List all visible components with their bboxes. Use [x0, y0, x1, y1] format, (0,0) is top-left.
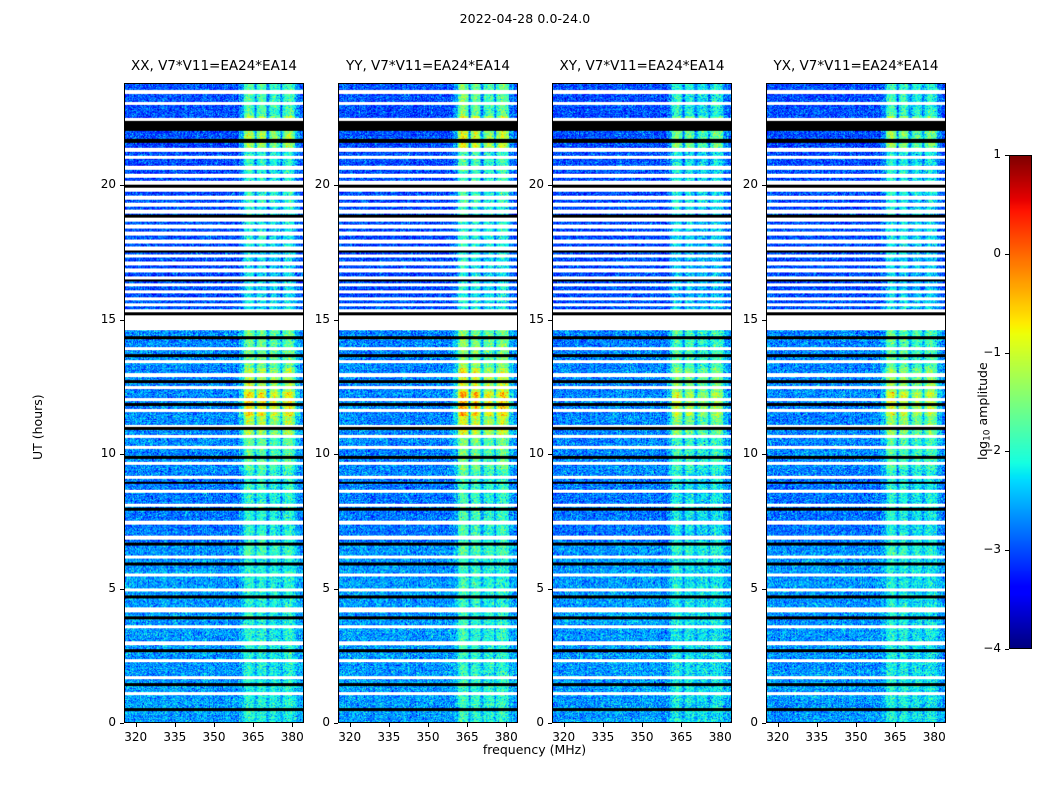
y-tick-label: 5	[296, 581, 330, 595]
x-tickmark	[720, 723, 721, 727]
colorbar-tick-label: 1	[969, 147, 1001, 161]
x-tickmark	[564, 723, 565, 727]
y-tick-label: 20	[296, 177, 330, 191]
y-tick-label: 0	[296, 715, 330, 729]
colorbar[interactable]	[1009, 155, 1032, 649]
colorbar-tickmark	[1005, 353, 1009, 354]
colorbar-tickmark	[1005, 649, 1009, 650]
y-axis-label: UT (hours)	[30, 394, 45, 460]
y-tickmark	[548, 185, 552, 186]
colorbar-label: log10 amplitude	[975, 362, 992, 460]
y-tickmark	[120, 454, 124, 455]
y-tick-label: 10	[724, 446, 758, 460]
y-tickmark	[762, 185, 766, 186]
y-tick-label: 5	[82, 581, 116, 595]
y-tickmark	[762, 589, 766, 590]
x-tickmark	[428, 723, 429, 727]
x-tickmark	[642, 723, 643, 727]
x-tickmark	[350, 723, 351, 727]
y-tick-label: 5	[724, 581, 758, 595]
y-tick-label: 0	[510, 715, 544, 729]
waterfall-panel-yx[interactable]	[766, 83, 946, 723]
y-tickmark	[120, 589, 124, 590]
y-tickmark	[548, 723, 552, 724]
y-tickmark	[334, 723, 338, 724]
y-tick-label: 0	[82, 715, 116, 729]
y-tickmark	[120, 723, 124, 724]
y-tickmark	[334, 320, 338, 321]
colorbar-tickmark	[1005, 451, 1009, 452]
x-tickmark	[253, 723, 254, 727]
x-axis-label: frequency (MHz)	[124, 742, 945, 757]
y-tickmark	[120, 185, 124, 186]
colorbar-tick-label: −3	[969, 542, 1001, 556]
x-tickmark	[292, 723, 293, 727]
y-tick-label: 10	[82, 446, 116, 460]
x-tickmark	[934, 723, 935, 727]
x-tickmark	[778, 723, 779, 727]
y-tick-label: 15	[510, 312, 544, 326]
colorbar-tickmark	[1005, 550, 1009, 551]
x-tickmark	[175, 723, 176, 727]
x-tickmark	[467, 723, 468, 727]
y-tickmark	[548, 454, 552, 455]
y-tick-label: 5	[510, 581, 544, 595]
x-tickmark	[506, 723, 507, 727]
colorbar-gradient	[1010, 156, 1031, 648]
x-tickmark	[603, 723, 604, 727]
y-tickmark	[120, 320, 124, 321]
x-tickmark	[817, 723, 818, 727]
y-tickmark	[334, 454, 338, 455]
y-tickmark	[762, 723, 766, 724]
y-tick-label: 20	[724, 177, 758, 191]
panel-title-yx: YX, V7*V11=EA24*EA14	[706, 58, 1006, 74]
y-tick-label: 10	[510, 446, 544, 460]
y-tickmark	[762, 454, 766, 455]
y-tick-label: 15	[724, 312, 758, 326]
figure-suptitle: 2022-04-28 0.0-24.0	[0, 11, 1050, 26]
colorbar-tickmark	[1005, 155, 1009, 156]
y-tick-label: 0	[724, 715, 758, 729]
y-tickmark	[334, 589, 338, 590]
y-tick-label: 15	[296, 312, 330, 326]
colorbar-label-prefix: log	[975, 441, 990, 460]
y-tickmark	[548, 320, 552, 321]
x-tickmark	[856, 723, 857, 727]
y-tick-label: 15	[82, 312, 116, 326]
y-tick-label: 20	[82, 177, 116, 191]
y-tickmark	[548, 589, 552, 590]
colorbar-label-suffix: amplitude	[975, 362, 990, 429]
y-tick-label: 20	[510, 177, 544, 191]
x-tickmark	[136, 723, 137, 727]
x-tickmark	[895, 723, 896, 727]
colorbar-tickmark	[1005, 254, 1009, 255]
waterfall-image-yx	[767, 84, 945, 722]
x-tickmark	[214, 723, 215, 727]
colorbar-tick-label: −4	[969, 641, 1001, 655]
colorbar-label-subscript: 10	[982, 429, 992, 440]
waterfall-image-xy	[553, 84, 731, 722]
waterfall-panel-xy[interactable]	[552, 83, 732, 723]
waterfall-panel-yy[interactable]	[338, 83, 518, 723]
colorbar-tick-label: 0	[969, 246, 1001, 260]
x-tickmark	[681, 723, 682, 727]
y-tickmark	[334, 185, 338, 186]
waterfall-image-yy	[339, 84, 517, 722]
y-tick-label: 10	[296, 446, 330, 460]
waterfall-image-xx	[125, 84, 303, 722]
y-tickmark	[762, 320, 766, 321]
waterfall-panel-xx[interactable]	[124, 83, 304, 723]
x-tickmark	[389, 723, 390, 727]
colorbar-tick-label: −1	[969, 345, 1001, 359]
